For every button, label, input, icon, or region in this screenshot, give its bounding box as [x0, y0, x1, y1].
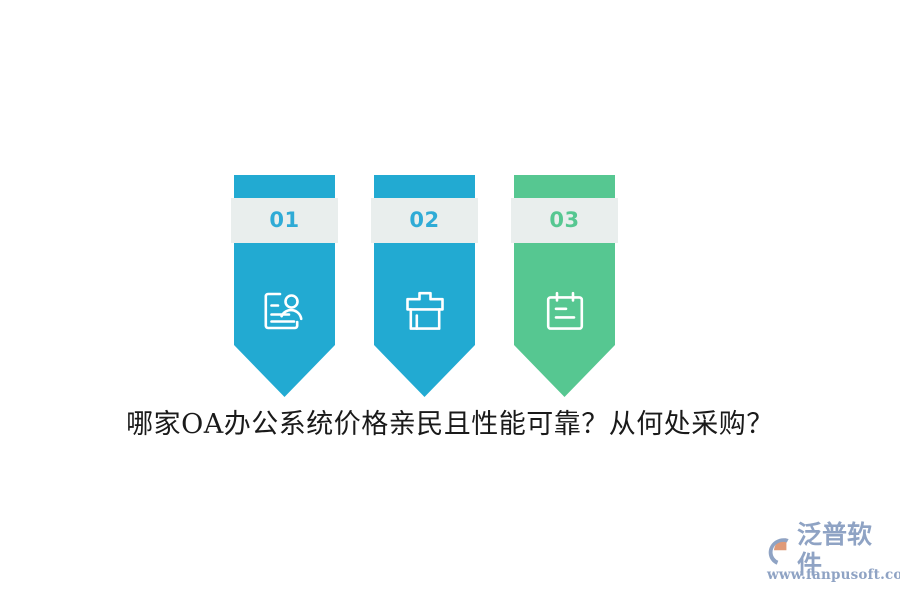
notepad-clipboard-icon — [514, 273, 615, 349]
banner-item-03[interactable]: 03 — [514, 175, 615, 397]
brand-url: www.fanpusoft.com — [767, 567, 892, 583]
brand-watermark: 泛普软件 www.fanpusoft.com — [766, 534, 892, 584]
fanpu-logo-mark-icon — [766, 535, 796, 565]
infographic-root: 01 02 — [0, 0, 900, 600]
page-title: 哪家OA办公系统价格亲民且性能可靠？从何处采购？ — [0, 405, 900, 445]
banner-number-band: 03 — [511, 198, 618, 243]
banner-number-label: 03 — [549, 210, 579, 231]
banner-row: 01 02 — [234, 175, 640, 397]
banner-item-02[interactable]: 02 — [374, 175, 475, 397]
banner-number-label: 01 — [269, 210, 299, 231]
storefront-shop-icon — [374, 273, 475, 349]
banner-number-label: 02 — [409, 210, 439, 231]
banner-number-band: 01 — [231, 198, 338, 243]
id-card-contact-icon — [234, 273, 335, 349]
banner-item-01[interactable]: 01 — [234, 175, 335, 397]
banner-number-band: 02 — [371, 198, 478, 243]
brand-logo-row: 泛普软件 — [766, 534, 892, 566]
